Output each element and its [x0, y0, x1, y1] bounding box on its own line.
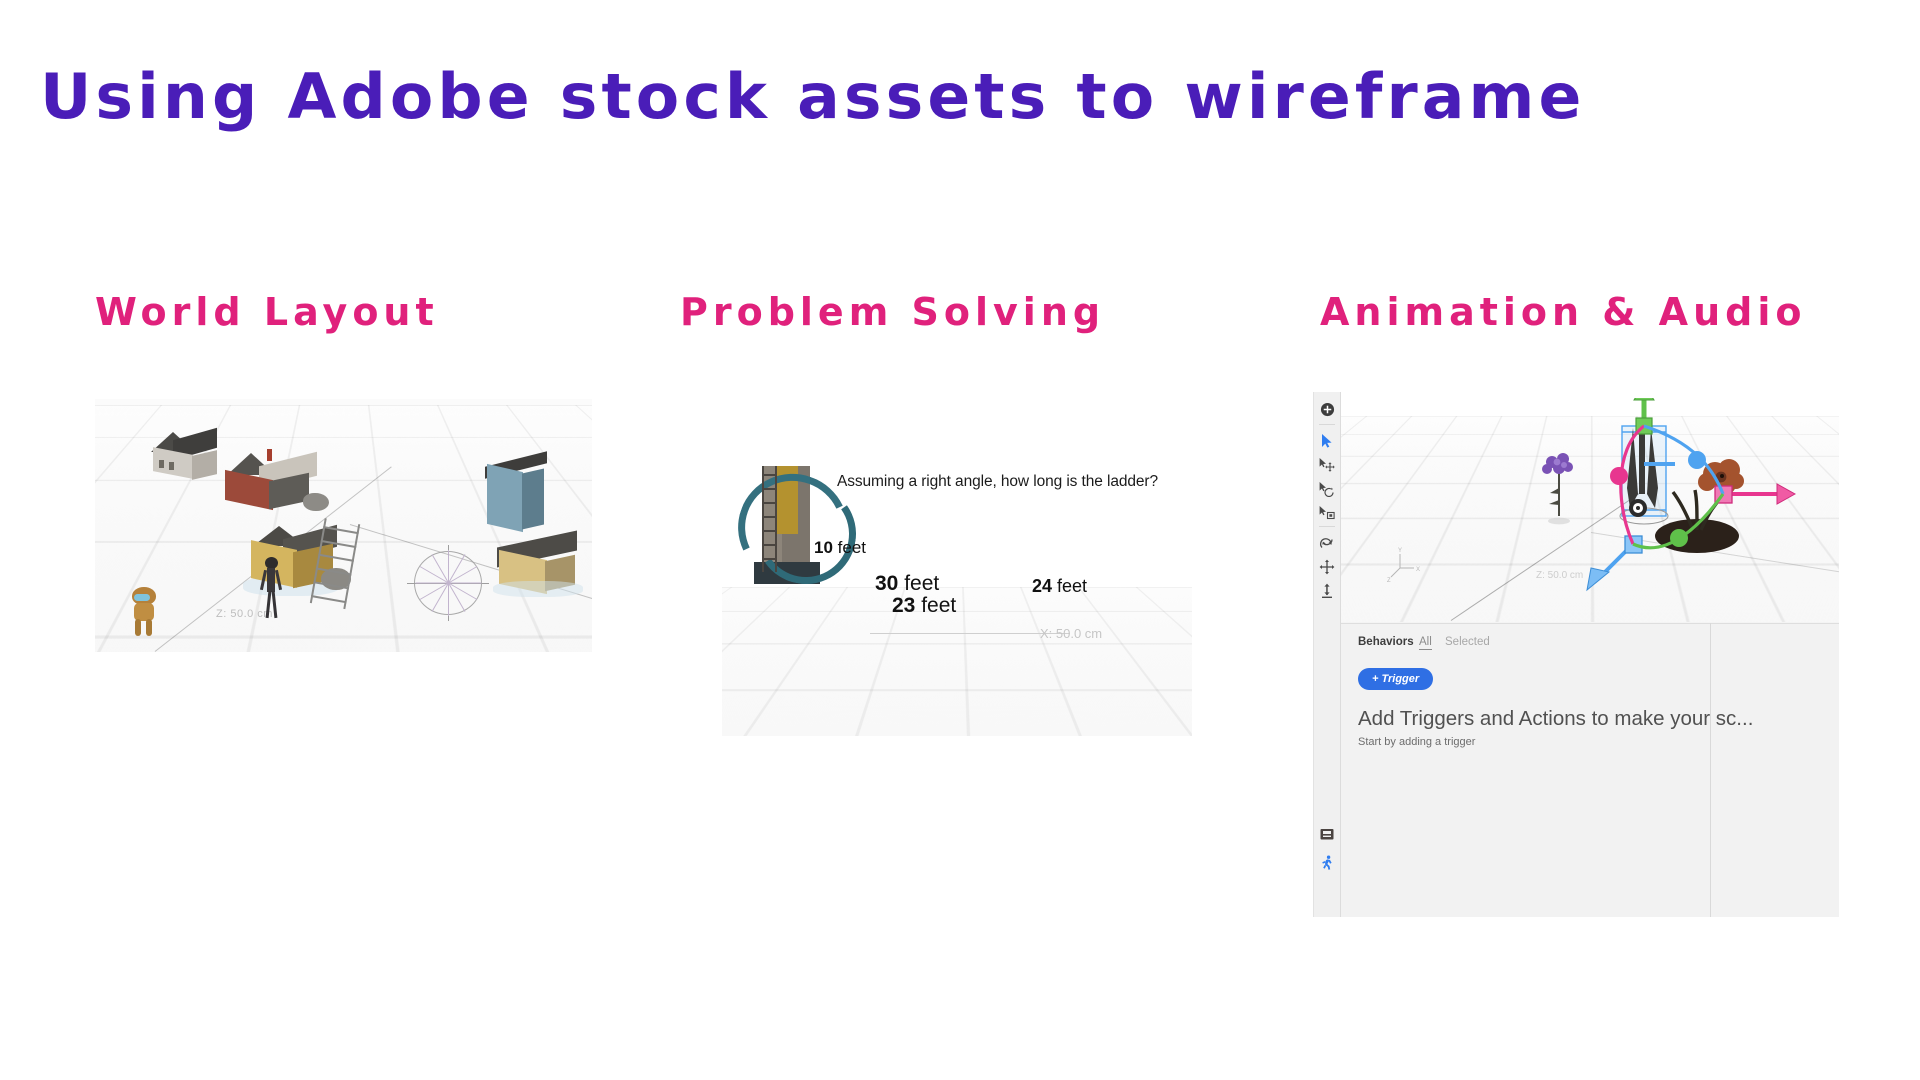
add-object-icon[interactable] [1314, 396, 1340, 422]
object-tower-ladder [762, 466, 778, 572]
answer-option-24[interactable]: 24 feet [1032, 576, 1087, 597]
answer-value-24: 24 [1032, 576, 1052, 596]
section-heading-world-layout: World Layout [95, 290, 439, 334]
transform-gizmo[interactable] [1573, 398, 1833, 598]
section-heading-problem-solving: Problem Solving [680, 290, 1105, 334]
tab-all[interactable]: All [1419, 636, 1432, 650]
add-trigger-button[interactable]: + Trigger [1358, 668, 1433, 690]
object-robot-character [128, 587, 160, 637]
tab-behaviors[interactable]: Behaviors [1358, 636, 1414, 648]
answer-unit-10: feet [833, 538, 866, 557]
answer-option-23[interactable]: 23 feet [892, 594, 956, 618]
answer-option-30[interactable]: 30 feet [875, 572, 939, 596]
panel-divider [1710, 623, 1711, 917]
scene-viewport[interactable]: Y X Z Z: 50.0 cm [1341, 392, 1839, 622]
world-layout-screenshot: Z: 50.0 cm [95, 399, 592, 652]
object-blue-storefront [485, 459, 547, 537]
object-small-house [149, 432, 223, 490]
tool-sidebar [1314, 392, 1341, 917]
svg-text:Z: Z [1387, 578, 1391, 584]
tab-selected[interactable]: Selected [1445, 636, 1490, 648]
object-saloon-building [493, 539, 583, 601]
section-heading-animation-audio: Animation & Audio [1320, 290, 1806, 334]
answer-unit-24: feet [1052, 576, 1087, 596]
svg-text:X: X [1416, 567, 1420, 573]
axis-orientation-gizmo: Y X Z [1386, 544, 1428, 584]
answer-unit-23: feet [915, 594, 956, 617]
camera-view-icon[interactable] [1314, 822, 1340, 846]
move-tool-icon[interactable] [1314, 452, 1340, 478]
problem-solving-screenshot: The ladder leaning against this tower is… [722, 466, 1192, 736]
behaviors-panel: Behaviors All Selected + Trigger Add Tri… [1341, 623, 1839, 917]
pan-tool-icon[interactable] [1314, 554, 1340, 580]
answer-option-10[interactable]: 10 feet [814, 538, 866, 558]
empty-state-title: Add Triggers and Actions to make your sc… [1358, 707, 1753, 731]
rotate-tool-icon[interactable] [1314, 476, 1340, 502]
object-compass-protractor [414, 551, 482, 615]
empty-state-subtitle: Start by adding a trigger [1358, 736, 1475, 748]
answer-unit-30: feet [898, 572, 939, 595]
animation-audio-screenshot: Y X Z Z: 50.0 cm [1313, 392, 1839, 917]
object-stick-character [258, 557, 284, 619]
svg-text:Y: Y [1398, 548, 1402, 554]
page-title: Using Adobe stock assets to wireframe [40, 60, 1585, 133]
scale-tool-icon[interactable] [1314, 500, 1340, 526]
object-red-house [219, 449, 324, 521]
problem-question: Assuming a right angle, how long is the … [837, 472, 1167, 492]
elevation-tool-icon[interactable] [1314, 578, 1340, 604]
orbit-tool-icon[interactable] [1314, 530, 1340, 556]
preview-play-icon[interactable] [1314, 850, 1340, 874]
axis-label-x: X: 50.0 cm [1040, 626, 1102, 641]
object-tower [732, 466, 842, 606]
answer-value-10: 10 [814, 538, 833, 557]
viewport-grid [722, 587, 1192, 736]
answer-value-23: 23 [892, 594, 915, 617]
select-tool-icon[interactable] [1314, 428, 1340, 454]
answer-value-30: 30 [875, 572, 898, 595]
